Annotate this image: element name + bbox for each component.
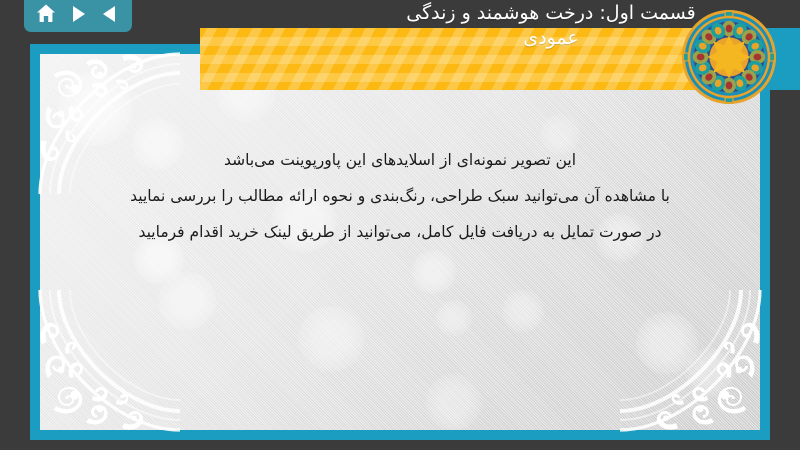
bokeh-circle — [412, 250, 456, 294]
slide-frame: این تصویر نمونه‌ای از اسلایدهای این پاور… — [30, 44, 770, 440]
body-line-3: در صورت تمایل به دریافت فایل کامل، می‌تو… — [80, 214, 720, 250]
body-line-2: با مشاهده آن می‌توانید سبک طراحی، رنگ‌بن… — [80, 178, 720, 214]
triangle-right-icon — [68, 4, 88, 24]
slide-body-text: این تصویر نمونه‌ای از اسلایدهای این پاور… — [80, 142, 720, 250]
bokeh-circle — [298, 306, 364, 372]
bokeh-circle — [426, 374, 482, 430]
next-slide-button[interactable] — [65, 1, 91, 27]
previous-slide-button[interactable] — [97, 1, 123, 27]
bokeh-circle — [436, 300, 472, 336]
triangle-left-icon — [100, 4, 120, 24]
navigation-bar — [24, 0, 132, 32]
body-line-1: این تصویر نمونه‌ای از اسلایدهای این پاور… — [80, 142, 720, 178]
home-icon — [35, 3, 57, 25]
persian-medallion-ornament — [680, 8, 778, 106]
bokeh-circle — [158, 272, 216, 330]
bokeh-circle — [502, 290, 544, 332]
slide-viewer-window: این تصویر نمونه‌ای از اسلایدهای این پاور… — [0, 0, 800, 450]
slide-canvas: این تصویر نمونه‌ای از اسلایدهای این پاور… — [40, 54, 760, 430]
bokeh-circle — [58, 72, 132, 146]
bokeh-circle — [686, 348, 734, 396]
home-button[interactable] — [33, 1, 59, 27]
